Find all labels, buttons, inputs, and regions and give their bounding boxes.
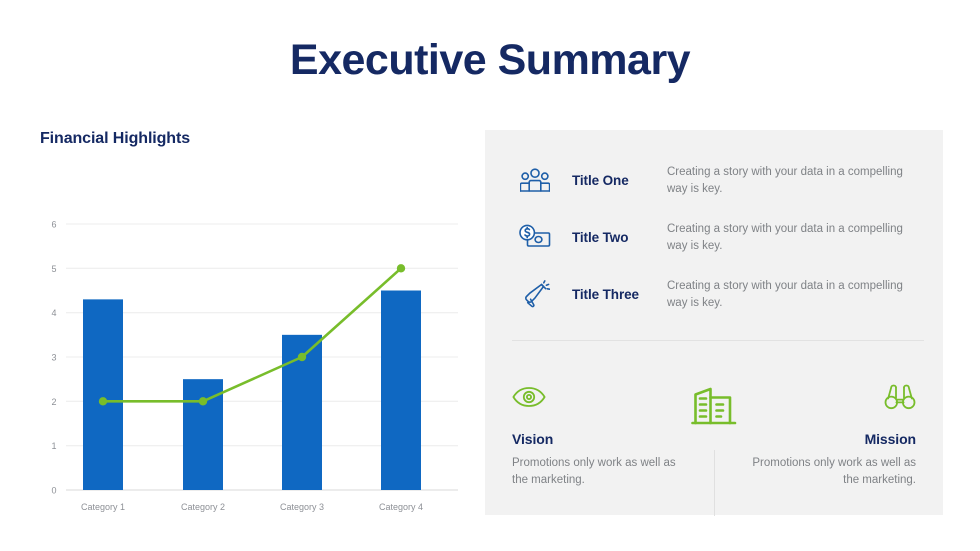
chart-line-marker xyxy=(199,397,207,405)
y-tick-2: 2 xyxy=(51,397,56,407)
chart-bar xyxy=(381,291,421,491)
bar-line-chart: 0 1 2 3 4 5 6 Category 1 Category 2 Cate… xyxy=(40,172,470,517)
feature-description: Creating a story with your data in a com… xyxy=(663,221,922,254)
chart-line-marker xyxy=(99,397,107,405)
chart-bars xyxy=(83,291,421,491)
feature-title: Title Two xyxy=(558,230,663,245)
y-tick-4: 4 xyxy=(51,308,56,318)
section-divider xyxy=(512,340,924,341)
vision-block: Vision Promotions only work as well as t… xyxy=(512,380,687,488)
y-tick-3: 3 xyxy=(51,353,56,363)
mission-block: Mission Promotions only work as well as … xyxy=(741,380,916,488)
financial-highlights-chart-panel: Financial Highlights 0 1 2 3 4 5 xyxy=(40,130,470,525)
y-tick-0: 0 xyxy=(51,486,56,496)
mission-title: Mission xyxy=(741,431,916,447)
feature-description: Creating a story with your data in a com… xyxy=(663,278,922,311)
chart-y-tick-labels: 0 1 2 3 4 5 6 xyxy=(51,220,56,496)
feature-title: Title Three xyxy=(558,287,663,302)
x-tick-category-1: Category 1 xyxy=(81,502,125,512)
chart-heading: Financial Highlights xyxy=(40,130,470,148)
feature-item-title-one[interactable]: Title One Creating a story with your dat… xyxy=(512,152,922,209)
chart-line-marker xyxy=(298,353,306,361)
chart-line-series xyxy=(99,264,405,405)
chart-line xyxy=(103,268,401,401)
feature-item-title-three[interactable]: Title Three Creating a story with your d… xyxy=(512,266,922,323)
chart-bar xyxy=(83,299,123,490)
y-tick-5: 5 xyxy=(51,264,56,274)
vision-mission-section: Vision Promotions only work as well as t… xyxy=(485,362,943,512)
buildings-icon xyxy=(690,384,738,433)
page-title: Executive Summary xyxy=(0,38,980,83)
vision-description: Promotions only work as well as the mark… xyxy=(512,455,687,488)
vision-mission-vertical-divider xyxy=(714,450,715,516)
summary-panel: Title One Creating a story with your dat… xyxy=(485,130,943,515)
feature-item-title-two[interactable]: Title Two Creating a story with your dat… xyxy=(512,209,922,266)
people-group-icon xyxy=(512,167,558,194)
binoculars-icon xyxy=(741,380,916,414)
chart-x-tick-labels: Category 1 Category 2 Category 3 Categor… xyxy=(81,502,423,512)
money-icon xyxy=(512,224,558,252)
vision-title: Vision xyxy=(512,431,687,447)
eye-icon xyxy=(512,380,687,414)
x-tick-category-2: Category 2 xyxy=(181,502,225,512)
x-tick-category-3: Category 3 xyxy=(280,502,324,512)
feature-list: Title One Creating a story with your dat… xyxy=(512,152,922,323)
feature-title: Title One xyxy=(558,173,663,188)
feature-description: Creating a story with your data in a com… xyxy=(663,164,922,197)
chart-svg: 0 1 2 3 4 5 6 Category 1 Category 2 Cate… xyxy=(40,172,470,517)
megaphone-icon xyxy=(512,280,558,310)
y-tick-1: 1 xyxy=(51,441,56,451)
chart-line-marker xyxy=(397,264,405,272)
x-tick-category-4: Category 4 xyxy=(379,502,423,512)
y-tick-6: 6 xyxy=(51,220,56,230)
mission-description: Promotions only work as well as the mark… xyxy=(741,455,916,488)
